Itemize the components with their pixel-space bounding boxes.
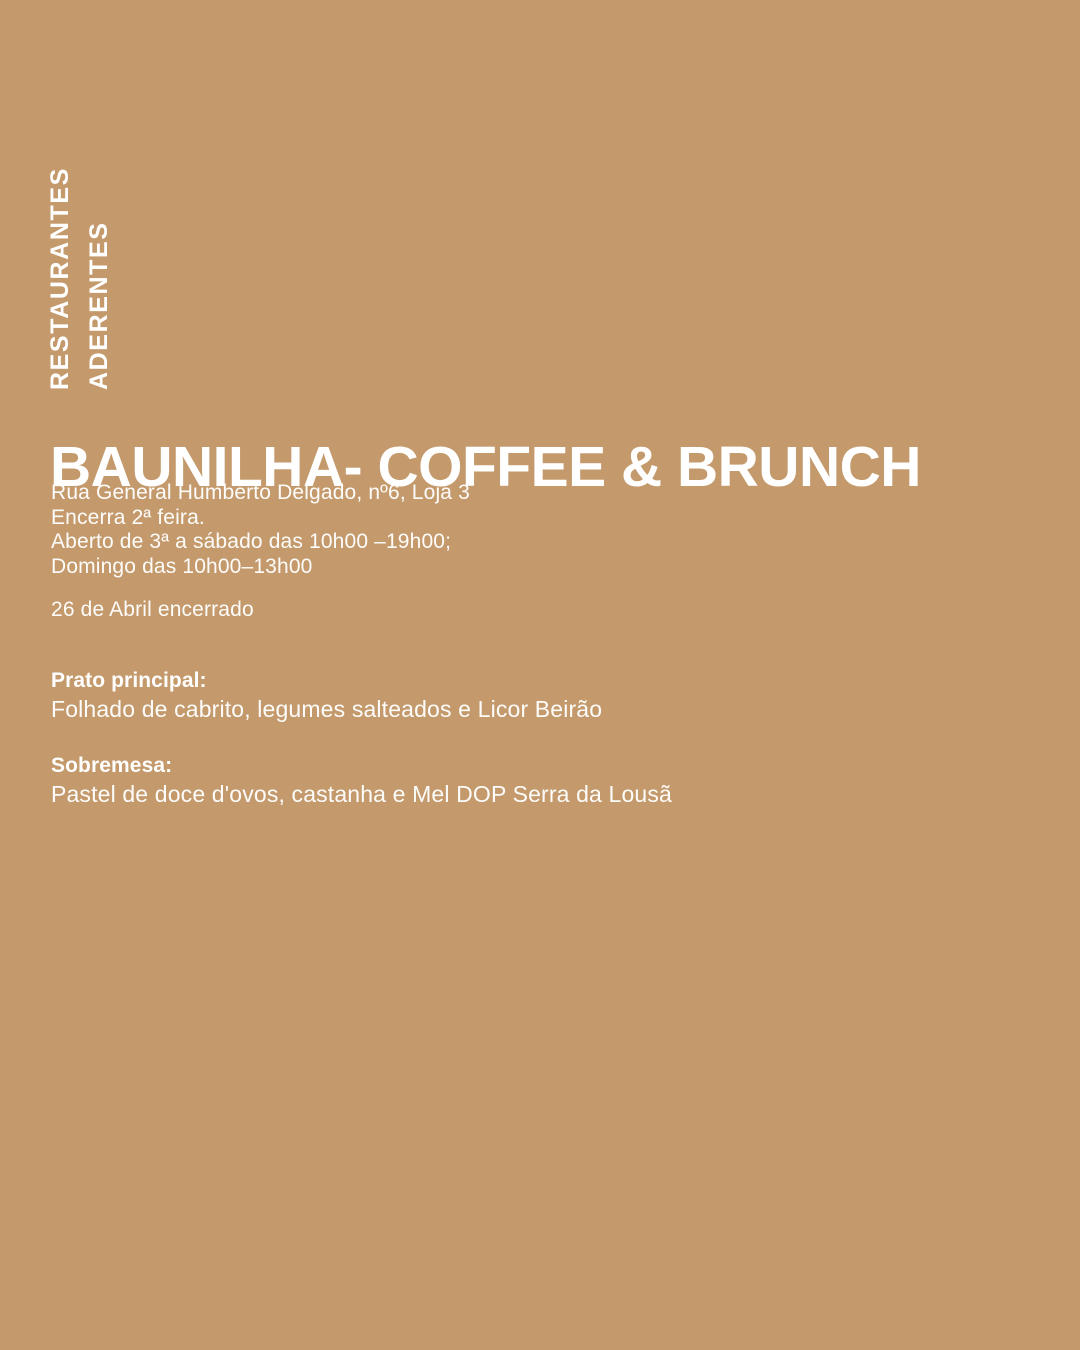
venue-holiday-notice: 26 de Abril encerrado xyxy=(51,598,254,623)
venue-closed-day: Encerra 2ª feira. xyxy=(51,506,951,531)
vertical-kicker: RESTAURANTES ADERENTES xyxy=(42,120,162,410)
course-label-main: Prato principal: xyxy=(51,667,1011,694)
venue-info-block: Rua General Humberto Delgado, nº6, Loja … xyxy=(51,481,951,579)
kicker-line-aderentes: ADERENTES xyxy=(87,221,112,390)
venue-hours-weekday: Aberto de 3ª a sábado das 10h00 –19h00; xyxy=(51,530,951,555)
course-label-dessert: Sobremesa: xyxy=(51,752,1011,779)
menu-course-dessert: Sobremesa: Pastel de doce d'ovos, castan… xyxy=(51,752,1011,809)
course-description-main: Folhado de cabrito, legumes salteados e … xyxy=(51,694,1011,724)
poster-canvas: RESTAURANTES ADERENTES BAUNILHA- COFFEE … xyxy=(0,0,1080,1350)
course-description-dessert: Pastel de doce d'ovos, castanha e Mel DO… xyxy=(51,779,1011,809)
venue-address: Rua General Humberto Delgado, nº6, Loja … xyxy=(51,481,951,506)
menu-course-main: Prato principal: Folhado de cabrito, leg… xyxy=(51,667,1011,724)
kicker-line-restaurantes: RESTAURANTES xyxy=(48,167,73,390)
venue-hours-sunday: Domingo das 10h00–13h00 xyxy=(51,555,951,580)
menu-block: Prato principal: Folhado de cabrito, leg… xyxy=(51,667,1011,809)
